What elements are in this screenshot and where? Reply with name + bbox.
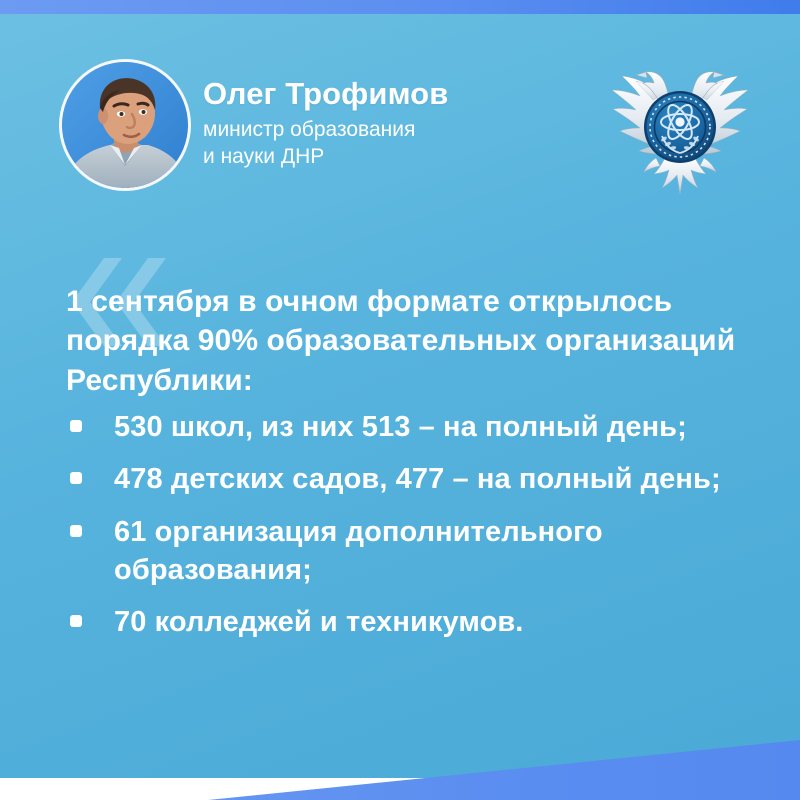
- headline-line-3: Республики:: [66, 361, 738, 400]
- info-card: Олег Трофимов министр образования и наук…: [0, 0, 800, 800]
- bullet-marker-icon: [70, 525, 82, 537]
- speaker-portrait-icon: [62, 62, 188, 188]
- headline: 1 сентября в очном формате открылось пор…: [66, 282, 738, 400]
- bullet-marker-icon: [70, 615, 82, 627]
- list-item-label: 70 колледжей и техникумов.: [114, 603, 766, 641]
- list-item-label: 530 школ, из них 513 – на полный день;: [114, 408, 766, 446]
- bullet-marker-icon: [70, 472, 82, 484]
- avatar: [59, 59, 191, 191]
- statistics-list: 530 школ, из них 513 – на полный день; 4…: [66, 408, 766, 655]
- speaker-role-line-2: и науки ДНР: [203, 143, 533, 171]
- dnr-education-ministry-emblem: [600, 52, 760, 202]
- speaker-role-line-1: министр образования: [203, 116, 533, 144]
- list-item-label: 478 детских садов, 477 – на полный день;: [114, 460, 766, 498]
- speaker-info: Олег Трофимов министр образования и наук…: [203, 78, 533, 171]
- list-item-label: 61 организация дополнительного образован…: [114, 513, 766, 590]
- speaker-name: Олег Трофимов: [203, 78, 533, 111]
- headline-line-2: порядка 90% образовательных организаций: [66, 321, 738, 360]
- double-headed-eagle-atom-icon: [600, 52, 760, 202]
- list-item: 70 колледжей и техникумов.: [66, 603, 766, 641]
- list-item: 530 школ, из них 513 – на полный день;: [66, 408, 766, 446]
- list-item: 61 организация дополнительного образован…: [66, 513, 766, 590]
- avatar-photo: [62, 62, 188, 188]
- headline-line-1: 1 сентября в очном формате открылось: [66, 282, 738, 321]
- top-accent-band: [0, 0, 800, 14]
- list-item: 478 детских садов, 477 – на полный день;: [66, 460, 766, 498]
- bullet-marker-icon: [70, 420, 82, 432]
